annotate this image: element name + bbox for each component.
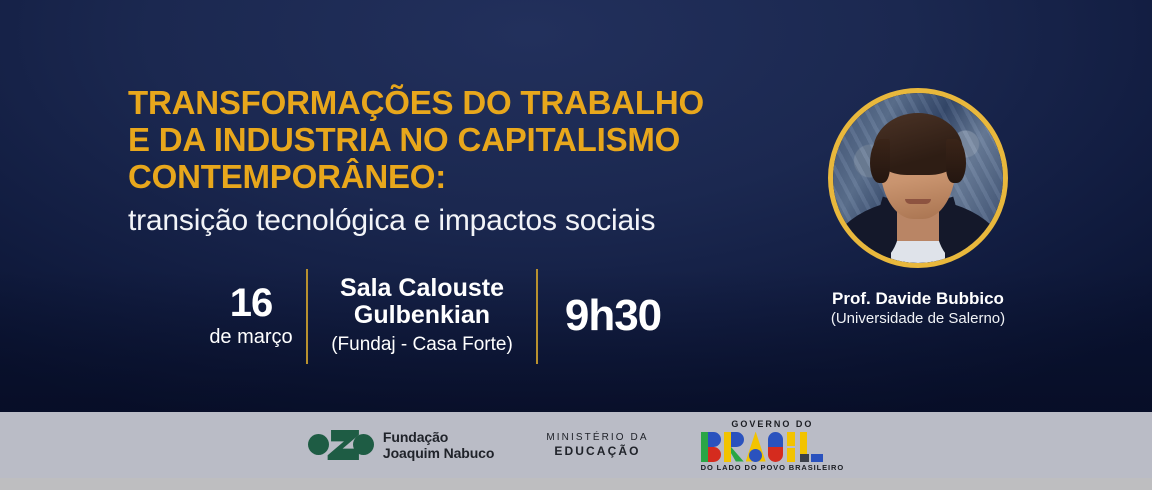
event-subtitle: transição tecnológica e impactos sociais: [128, 204, 808, 238]
time-value: 9h30: [565, 293, 661, 339]
speaker-name: Prof. Davide Bubbico: [788, 289, 1048, 309]
fundaj-logo-text: Fundação Joaquim Nabuco: [383, 429, 494, 461]
brasil-glyph-r-stem: [724, 432, 731, 462]
governo-label: GOVERNO DO: [701, 418, 844, 430]
brasil-glyph-r-leg: [731, 447, 744, 462]
brasil-glyph-i-bottom: [787, 448, 795, 462]
brasil-glyph-b-bottom: [708, 447, 721, 462]
event-details-row: 16 de março Sala Calouste Gulbenkian (Fu…: [196, 268, 688, 364]
governo-tagline: DO LADO DO POVO BRASILEIRO: [701, 463, 844, 473]
fundaj-mark-dot-left: [308, 434, 329, 455]
fundaj-logo-icon: [308, 430, 374, 460]
governo-do-brasil-logo: GOVERNO DO: [701, 418, 844, 473]
brasil-glyph-b-stem: [701, 432, 708, 462]
venue-location: (Fundaj - Casa Forte): [331, 333, 513, 357]
brasil-glyph-b-top: [708, 432, 721, 447]
brasil-glyph-l-foot: [800, 454, 809, 462]
title-line-3: CONTEMPORÂNEO:: [128, 158, 808, 195]
ministry-line-1: MINISTÉRIO DA: [546, 431, 648, 444]
footer-logo-row: Fundação Joaquim Nabuco MINISTÉRIO DA ED…: [0, 412, 1152, 478]
brasil-glyph-a-dot: [749, 449, 762, 462]
fundaj-text-line-2: Joaquim Nabuco: [383, 445, 494, 461]
brasil-glyph-l-block: [811, 454, 823, 462]
event-date: 16 de março: [196, 283, 306, 349]
title-line-1: TRANSFORMAÇÕES DO TRABALHO: [128, 84, 808, 121]
speaker-organization: (Universidade de Salerno): [788, 310, 1048, 328]
title-block: TRANSFORMAÇÕES DO TRABALHO E DA INDUSTRI…: [128, 84, 808, 238]
event-venue: Sala Calouste Gulbenkian (Fundaj - Casa …: [308, 275, 536, 357]
date-day: 16: [230, 283, 273, 323]
brasil-glyph-l-stem: [800, 432, 807, 454]
brasil-glyph-i-top: [787, 432, 795, 446]
fundaj-logo: Fundação Joaquim Nabuco: [308, 429, 494, 461]
brasil-glyph-s-top: [768, 432, 783, 447]
venue-name-line-2: Gulbenkian: [354, 302, 490, 329]
ministry-line-2: EDUCAÇÃO: [546, 444, 648, 459]
date-month: de março: [209, 325, 292, 349]
event-time: 9h30: [538, 293, 688, 339]
portrait-mouth: [905, 199, 931, 204]
fundaj-mark-dot-right: [353, 434, 374, 455]
ministry-of-education-logo: MINISTÉRIO DA EDUCAÇÃO: [546, 431, 648, 459]
event-banner: TRANSFORMAÇÕES DO TRABALHO E DA INDUSTRI…: [0, 0, 1152, 490]
title-line-2: E DA INDUSTRIA NO CAPITALISMO: [128, 121, 808, 158]
footer-bar: Fundação Joaquim Nabuco MINISTÉRIO DA ED…: [0, 412, 1152, 478]
brasil-glyph-s-bottom: [768, 447, 783, 462]
fundaj-text-line-1: Fundação: [383, 429, 494, 445]
venue-name-line-1: Sala Calouste: [340, 275, 504, 302]
speaker-portrait-image: [833, 93, 1003, 263]
brasil-glyph-r-bowl: [731, 432, 744, 447]
speaker-photo-frame: [828, 88, 1008, 268]
footer-base-strip: [0, 478, 1152, 490]
brasil-wordmark-icon: [701, 432, 823, 462]
